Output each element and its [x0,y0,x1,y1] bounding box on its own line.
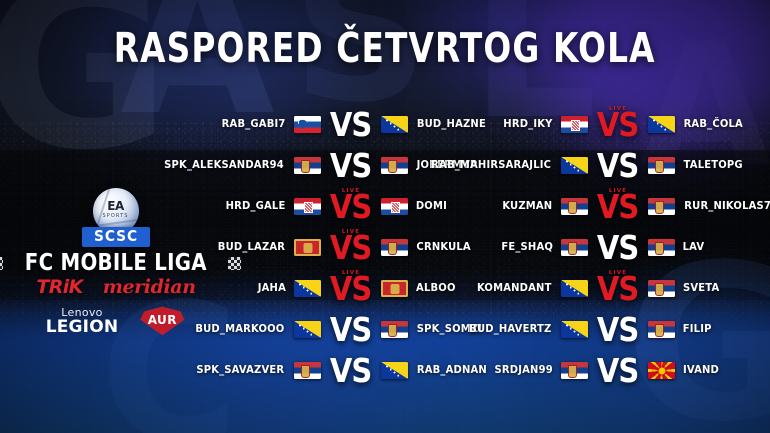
away-player-name: CRNKULA [416,242,470,253]
away-flag-icon [381,198,408,215]
match-row[interactable]: HRD_IKYLIVEVSRAB_ČOLA [482,104,754,145]
away-flag-icon [381,239,408,256]
match-away-side: RAB_ADNAN [381,362,480,379]
match-away-side: LAV [648,239,754,256]
away-player-name: ALBOO [416,283,456,294]
match-home-side: HRD_IKY [482,116,588,133]
match-home-side: JAHA [222,280,321,297]
home-flag-icon [294,198,321,215]
page-title-text: RASPORED ČETVRTOG KOLA [114,28,656,69]
match-home-side: BUD_HAVERTZ [482,321,588,338]
versus-block: LIVEVS [321,190,381,223]
away-player-name: RAB_ADNAN [417,365,487,376]
match-away-side: RUR_NIKOLAS7 [648,198,754,215]
match-column-right: HRD_IKYLIVEVSRAB_ČOLARAB_MAHIRSARAJLICVS… [482,104,754,391]
away-flag-icon [648,362,675,379]
away-flag-icon [648,116,675,133]
away-flag-icon [381,116,408,133]
match-away-side: DOMI [381,198,480,215]
home-flag-icon [294,280,321,297]
match-home-side: KOMANDANT [482,280,588,297]
match-away-side: ALBOO [381,280,480,297]
match-row[interactable]: KUZMANLIVEVSRUR_NIKOLAS7 [482,186,754,227]
match-row[interactable]: HRD_GALELIVEVSDOMI [222,186,480,227]
league-name-row: FC MOBILE LIGA [18,252,213,275]
aur-wordmark: AUR [138,306,186,336]
match-row[interactable]: BUD_HAVERTZVSFILIP [482,309,754,350]
page-title: RASPORED ČETVRTOG KOLA [0,28,770,69]
sponsor-lenovo-legion-logo: Lenovo LEGION [46,307,119,336]
home-player-name: SPK_ALEKSANDAR94 [164,160,284,171]
schedule-graphic: G A S L A G C RASPORED ČETVRTOG KOLA EA … [0,0,770,433]
home-player-name: SPK_SAVAZVER [197,365,285,376]
versus-label: VS [597,272,639,305]
match-row[interactable]: KOMANDANTLIVEVSSVETA [482,268,754,309]
versus-block: VS [321,354,381,387]
versus-block: LIVEVS [588,190,648,223]
away-player-name: IVAND [683,365,719,376]
home-player-name: BUD_HAVERTZ [470,324,552,335]
home-player-name: HRD_GALE [226,201,286,212]
versus-block: VS [321,108,381,141]
match-away-side: IVAND [648,362,754,379]
versus-label: VS [330,190,372,223]
home-flag-icon [561,239,588,256]
league-logo: EA SPORTS SCSC FC MOBILE LIGA [18,188,213,275]
home-flag-icon [294,321,321,338]
match-away-side: SPK_SOMZI [381,321,480,338]
versus-label: VS [597,190,639,223]
sponsor-row-top: TRiK meridian [20,278,212,297]
away-flag-icon [648,239,675,256]
versus-label: VS [597,108,639,141]
versus-label: VS [330,272,372,305]
match-row[interactable]: SRDJAN99VSIVAND [482,350,754,391]
versus-block: VS [321,313,381,346]
match-home-side: RAB_MAHIRSARAJLIC [482,157,588,174]
versus-block: VS [588,231,648,264]
match-away-side: BUD_HAZNE [381,116,480,133]
sponsor-trik-logo: TRiK [36,278,82,297]
home-player-name: SRDJAN99 [494,365,552,376]
home-flag-icon [561,157,588,174]
match-home-side: HRD_GALE [222,198,321,215]
home-flag-icon [561,321,588,338]
home-player-name: RAB_MAHIRSARAJLIC [431,160,551,171]
match-home-side: SRDJAN99 [482,362,588,379]
home-player-name: HRD_IKY [503,119,552,130]
home-flag-icon [561,116,588,133]
away-flag-icon [381,321,408,338]
match-home-side: BUD_LAZAR [222,239,321,256]
away-player-name: RUR_NIKOLAS7 [684,201,770,212]
away-flag-icon [648,280,675,297]
versus-block: VS [588,149,648,182]
home-player-name: FE_SHAQ [501,242,553,253]
legion-wordmark: LEGION [46,319,119,336]
away-flag-icon [648,198,675,215]
sponsor-bar: TRiK meridian Lenovo LEGION AUR [20,278,212,345]
match-row[interactable]: JAHALIVEVSALBOO [222,268,480,309]
home-flag-icon [294,116,321,133]
match-home-side: KUZMAN [482,198,588,215]
match-away-side: FILIP [648,321,754,338]
match-away-side: RAB_ČOLA [648,116,754,133]
versus-label: VS [597,231,639,264]
home-player-name: BUD_LAZAR [218,242,285,253]
versus-label: VS [597,354,639,387]
sponsor-meridian-logo: meridian [103,278,196,297]
versus-block: VS [588,313,648,346]
versus-label: VS [330,313,372,346]
versus-block: LIVEVS [321,231,381,264]
away-player-name: FILIP [683,324,712,335]
lenovo-wordmark: Lenovo [46,307,119,318]
away-player-name: RAB_ČOLA [684,119,743,130]
away-flag-icon [381,280,408,297]
versus-block: VS [321,149,381,182]
match-away-side: SVETA [648,280,754,297]
versus-label: VS [597,149,639,182]
match-row[interactable]: RAB_GABI7VSBUD_HAZNE [222,104,480,145]
match-row[interactable]: FE_SHAQVSLAV [482,227,754,268]
match-away-side: CRNKULA [381,239,480,256]
match-home-side: BUD_MARKOOO [222,321,321,338]
versus-block: VS [588,354,648,387]
match-column-left: RAB_GABI7VSBUD_HAZNESPK_ALEKSANDAR94VSJO… [222,104,480,391]
home-player-name: RAB_GABI7 [221,119,285,130]
versus-label: VS [330,354,372,387]
home-flag-icon [561,280,588,297]
away-player-name: DOMI [416,201,447,212]
match-home-side: FE_SHAQ [482,239,588,256]
match-home-side: SPK_SAVAZVER [222,362,321,379]
home-player-name: JAHA [258,283,286,294]
match-row[interactable]: SPK_SAVAZVERVSRAB_ADNAN [222,350,480,391]
home-player-name: KUZMAN [503,201,553,212]
home-flag-icon [561,198,588,215]
away-flag-icon [381,157,408,174]
match-row[interactable]: BUD_LAZARLIVEVSCRNKULA [222,227,480,268]
versus-label: VS [330,149,372,182]
away-flag-icon [648,321,675,338]
checkered-flag-icon [228,257,241,270]
match-away-side: TALETOPG [648,157,754,174]
sports-wordmark: SPORTS [93,213,139,219]
match-row[interactable]: RAB_MAHIRSARAJLICVSTALETOPG [482,145,754,186]
versus-label: VS [597,313,639,346]
away-player-name: BUD_HAZNE [417,119,486,130]
home-flag-icon [294,362,321,379]
scsc-badge: SCSC [81,227,149,247]
sponsor-aur-logo: AUR [138,306,186,336]
versus-block: LIVEVS [588,108,648,141]
league-name: FC MOBILE LIGA [25,252,207,275]
away-player-name: SVETA [683,283,719,294]
versus-block: LIVEVS [588,272,648,305]
versus-block: LIVEVS [321,272,381,305]
sponsor-row-bottom: Lenovo LEGION AUR [20,306,212,336]
away-player-name: TALETOPG [684,160,743,171]
match-home-side: SPK_ALEKSANDAR94 [222,157,321,174]
match-row[interactable]: BUD_MARKOOOVSSPK_SOMZI [222,309,480,350]
home-flag-icon [561,362,588,379]
away-flag-icon [648,157,675,174]
match-home-side: RAB_GABI7 [222,116,321,133]
versus-label: VS [330,231,372,264]
ea-wordmark: EA [93,200,139,212]
away-player-name: LAV [683,242,705,253]
home-flag-icon [294,239,321,256]
checkered-flag-icon [0,257,3,270]
away-flag-icon [381,362,408,379]
home-player-name: KOMANDANT [477,283,552,294]
versus-label: VS [330,108,372,141]
home-flag-icon [294,157,321,174]
